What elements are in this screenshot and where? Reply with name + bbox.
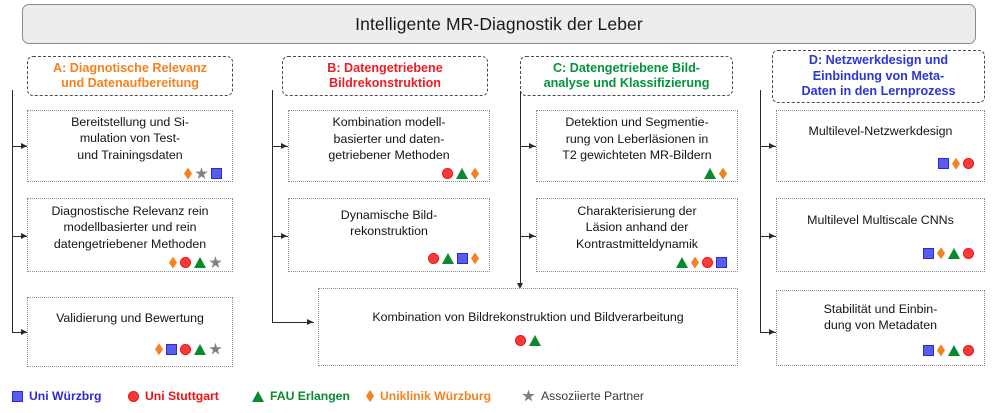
- box-center-text: Kombination von Bildrekonstruktion und B…: [325, 309, 731, 325]
- box-d1-markers: [783, 157, 978, 171]
- marker-diamond-icon: [169, 257, 177, 269]
- marker-circle-icon: [428, 253, 439, 264]
- column-header-d[interactable]: D: Netzwerkdesign und Einbindung von Met…: [772, 50, 985, 103]
- box-b2-markers: [295, 251, 483, 265]
- box-center-markers: [325, 333, 731, 347]
- connector-arrow-d1: [769, 143, 775, 149]
- connector-arrow-d2: [769, 233, 775, 239]
- connector-arrow-b2: [281, 233, 287, 239]
- legend-label-uni-wuerzburg: Uni Würzbrg: [29, 389, 101, 403]
- legend-label-fau-erlangen: FAU Erlangen: [270, 389, 350, 403]
- box-d2-text: Multilevel Multiscale CNNs: [783, 212, 978, 228]
- connector-arrow-d3: [769, 329, 775, 335]
- marker-triangle-icon: [704, 168, 716, 179]
- column-header-c-text: C: Datengetriebene Bild- analyse und Kla…: [544, 61, 710, 92]
- legend-item-assoziierte-partner: Assoziierte Partner: [522, 389, 644, 403]
- box-a2-markers: [34, 256, 226, 269]
- box-b1[interactable]: Kombination modell- basierter und daten-…: [288, 110, 490, 182]
- legend-label-assoziierte-partner: Assoziierte Partner: [541, 389, 644, 403]
- marker-star-icon: [209, 343, 222, 356]
- legend-label-uni-stuttgart: Uni Stuttgart: [145, 389, 219, 403]
- column-header-c[interactable]: C: Datengetriebene Bild- analyse und Kla…: [520, 56, 733, 96]
- box-center-combination[interactable]: Kombination von Bildrekonstruktion und B…: [318, 288, 738, 366]
- marker-triangle-icon: [529, 335, 541, 346]
- box-a1[interactable]: Bereitstellung und Si- mulation von Test…: [27, 110, 233, 182]
- connector-vline-d: [760, 90, 761, 333]
- connector-arrow-c2: [529, 233, 535, 239]
- marker-circle-icon: [963, 345, 974, 356]
- marker-circle-icon: [702, 257, 713, 268]
- marker-diamond-icon: [366, 390, 374, 402]
- box-a2-text: Diagnostische Relevanz rein modellbasier…: [34, 203, 226, 252]
- box-d3-markers: [783, 343, 978, 357]
- column-header-b[interactable]: B: Datengetriebene Bildrekonstruktion: [282, 56, 488, 96]
- legend-label-uniklinik-wuerzburg: Uniklinik Würzburg: [380, 389, 491, 403]
- box-a1-markers: [34, 167, 226, 180]
- diagram-title-bar: Intelligente MR-Diagnostik der Leber: [22, 4, 976, 44]
- box-b2-text: Dynamische Bild- rekonstruktion: [295, 207, 483, 240]
- box-c2[interactable]: Charakterisierung der Läsion anhand der …: [536, 198, 738, 272]
- marker-circle-icon: [963, 248, 974, 259]
- box-c2-text: Charakterisierung der Läsion anhand der …: [543, 203, 731, 252]
- marker-triangle-icon: [948, 345, 960, 356]
- page-title: Intelligente MR-Diagnostik der Leber: [355, 14, 643, 35]
- marker-square-icon: [938, 158, 949, 169]
- legend-item-uni-wuerzburg: Uni Würzbrg: [12, 389, 101, 403]
- marker-circle-icon: [180, 344, 191, 355]
- marker-circle-icon: [128, 391, 139, 402]
- box-d1[interactable]: Multilevel-Netzwerkdesign: [776, 110, 985, 182]
- marker-diamond-icon: [471, 168, 479, 180]
- marker-circle-icon: [515, 335, 526, 346]
- marker-circle-icon: [442, 168, 453, 179]
- marker-triangle-icon: [456, 168, 468, 179]
- marker-diamond-icon: [952, 158, 960, 170]
- marker-diamond-icon: [937, 344, 945, 356]
- connector-arrow-b1: [281, 143, 287, 149]
- diagram-root: Intelligente MR-Diagnostik der Leber A: …: [0, 0, 1000, 413]
- box-a3-markers: [34, 342, 226, 356]
- marker-diamond-icon: [184, 168, 192, 180]
- connector-arrow-b-center: [307, 319, 313, 325]
- column-header-b-text: B: Datengetriebene Bildrekonstruktion: [327, 61, 442, 92]
- marker-diamond-icon: [937, 247, 945, 259]
- legend-item-uni-stuttgart: Uni Stuttgart: [128, 389, 219, 403]
- box-c2-markers: [543, 256, 731, 269]
- marker-triangle-icon: [442, 253, 454, 264]
- box-d1-text: Multilevel-Netzwerkdesign: [783, 123, 978, 139]
- marker-diamond-icon: [719, 168, 727, 180]
- box-a3[interactable]: Validierung und Bewertung: [27, 297, 233, 367]
- marker-triangle-icon: [676, 257, 688, 268]
- marker-circle-icon: [963, 158, 974, 169]
- legend: Uni Würzbrg Uni Stuttgart FAU Erlangen U…: [0, 384, 1000, 408]
- box-d2-markers: [783, 246, 978, 260]
- box-a1-text: Bereitstellung und Si- mulation von Test…: [34, 114, 226, 163]
- marker-diamond-icon: [691, 257, 699, 269]
- marker-star-icon: [195, 167, 208, 180]
- legend-item-fau-erlangen: FAU Erlangen: [252, 389, 350, 403]
- marker-square-icon: [211, 168, 222, 179]
- marker-square-icon: [716, 257, 727, 268]
- box-d3[interactable]: Stabilität und Einbin- dung von Metadate…: [776, 290, 985, 366]
- box-a2[interactable]: Diagnostische Relevanz rein modellbasier…: [27, 198, 233, 272]
- connector-vline-b: [272, 90, 273, 323]
- column-header-d-text: D: Netzwerkdesign und Einbindung von Met…: [802, 53, 956, 100]
- box-b1-text: Kombination modell- basierter und daten-…: [295, 114, 483, 163]
- box-b1-markers: [295, 168, 483, 180]
- box-c1-text: Detektion und Segmentie- rung von Leberl…: [543, 114, 731, 163]
- legend-item-uniklinik-wuerzburg: Uniklinik Würzburg: [366, 389, 491, 403]
- marker-triangle-icon: [948, 248, 960, 259]
- marker-square-icon: [923, 248, 934, 259]
- marker-square-icon: [923, 345, 934, 356]
- marker-circle-icon: [180, 257, 191, 268]
- box-b2[interactable]: Dynamische Bild- rekonstruktion: [288, 198, 490, 272]
- marker-square-icon: [12, 391, 23, 402]
- marker-triangle-icon: [194, 257, 206, 268]
- column-header-a[interactable]: A: Diagnotische Relevanz und Datenaufber…: [27, 56, 233, 96]
- box-a3-text: Validierung und Bewertung: [34, 310, 226, 326]
- marker-diamond-icon: [155, 343, 163, 355]
- box-c1-markers: [543, 168, 731, 180]
- marker-star-icon: [522, 390, 535, 403]
- connector-arrow-c1: [529, 143, 535, 149]
- marker-star-icon: [209, 256, 222, 269]
- box-c1[interactable]: Detektion und Segmentie- rung von Leberl…: [536, 110, 738, 182]
- marker-square-icon: [457, 253, 468, 264]
- column-header-a-text: A: Diagnotische Relevanz und Datenaufber…: [53, 61, 207, 92]
- marker-triangle-icon: [194, 344, 206, 355]
- box-d3-text: Stabilität und Einbin- dung von Metadate…: [783, 301, 978, 334]
- box-d2[interactable]: Multilevel Multiscale CNNs: [776, 198, 985, 272]
- connector-vline-c: [520, 90, 521, 286]
- connector-vline-a: [12, 90, 13, 333]
- marker-diamond-icon: [471, 252, 479, 264]
- marker-square-icon: [166, 344, 177, 355]
- marker-triangle-icon: [252, 391, 264, 402]
